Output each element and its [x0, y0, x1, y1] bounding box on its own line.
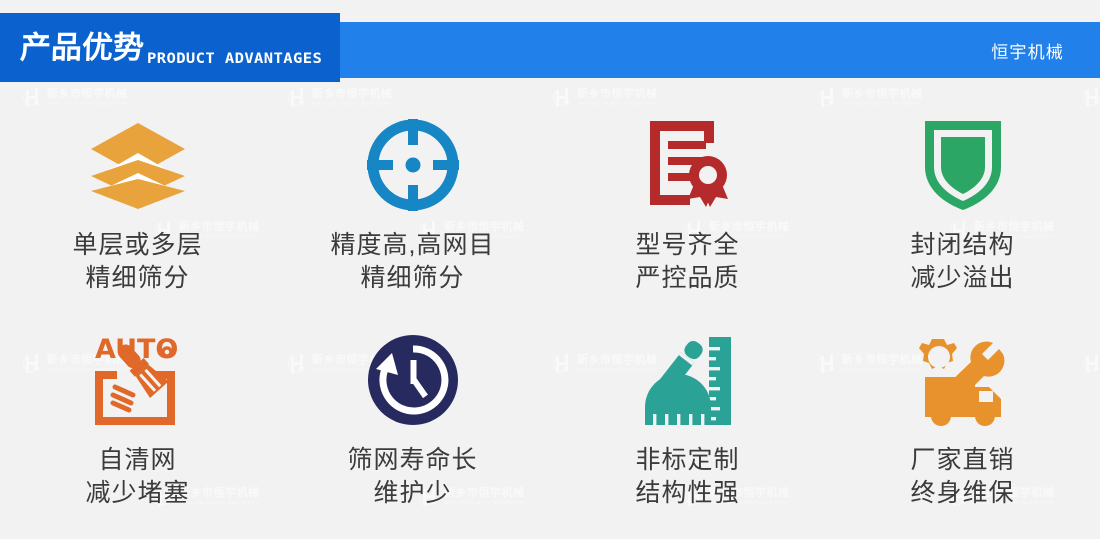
shield-icon — [911, 117, 1015, 213]
feature-caption-8-line1: 厂家直销 — [910, 444, 1014, 477]
layers-stack-icon — [86, 117, 190, 213]
feature-card-4: 封闭结构 减少溢出 — [825, 95, 1100, 310]
feature-card-6: 筛网寿命长 维护少 — [275, 310, 550, 525]
feature-card-7: 非标定制 结构性强 — [550, 310, 825, 525]
feature-caption-6: 筛网寿命长 维护少 — [347, 444, 477, 510]
feature-caption-6-line1: 筛网寿命长 — [347, 444, 477, 477]
pencil-ruler-icon — [636, 332, 740, 428]
auto-brush-icon: AUTO — [86, 332, 190, 428]
header-title-tag: 产品优势 PRODUCT ADVANTAGES — [0, 13, 340, 82]
page-title-cn: 产品优势 — [19, 31, 144, 65]
feature-caption-1-line1: 单层或多层 — [72, 229, 202, 262]
feature-caption-1-line2: 精细筛分 — [72, 262, 202, 295]
feature-card-2: 精度高,高网目 精细筛分 — [275, 95, 550, 310]
feature-caption-6-line2: 维护少 — [347, 477, 477, 510]
feature-caption-4-line2: 减少溢出 — [910, 262, 1014, 295]
feature-caption-3-line1: 型号齐全 — [635, 229, 739, 262]
feature-grid: 单层或多层 精细筛分 精度高,高网目 精细筛分 — [0, 95, 1100, 525]
feature-caption-3: 型号齐全 严控品质 — [635, 229, 739, 295]
feature-caption-4: 封闭结构 减少溢出 — [910, 229, 1014, 295]
feature-caption-7: 非标定制 结构性强 — [635, 444, 739, 510]
feature-caption-5: 自清网 减少堵塞 — [85, 444, 189, 510]
certificate-award-icon — [636, 117, 740, 213]
feature-card-5: AUTO 自清网 减少堵塞 — [0, 310, 275, 525]
clock-history-icon — [361, 332, 465, 428]
feature-caption-7-line1: 非标定制 — [635, 444, 739, 477]
feature-caption-2-line2: 精细筛分 — [331, 262, 495, 295]
feature-caption-4-line1: 封闭结构 — [910, 229, 1014, 262]
product-advantages-banner: 新乡市恒宇机械XINXIANG HENGYU MACHINERY新乡市恒宇机械X… — [0, 0, 1100, 539]
feature-caption-8: 厂家直销 终身维保 — [910, 444, 1014, 510]
feature-caption-5-line2: 减少堵塞 — [85, 477, 189, 510]
feature-card-8: 厂家直销 终身维保 — [825, 310, 1100, 525]
page-title-en: PRODUCT ADVANTAGES — [147, 50, 322, 80]
feature-caption-2: 精度高,高网目 精细筛分 — [331, 229, 495, 295]
feature-caption-5-line1: 自清网 — [85, 444, 189, 477]
delivery-truck-service-icon — [911, 332, 1015, 428]
header: 产品优势 PRODUCT ADVANTAGES 恒宇机械 — [0, 0, 1100, 95]
feature-card-1: 单层或多层 精细筛分 — [0, 95, 275, 310]
feature-caption-1: 单层或多层 精细筛分 — [72, 229, 202, 295]
brand-name: 恒宇机械 — [991, 22, 1064, 78]
target-crosshair-icon — [361, 117, 465, 213]
feature-caption-7-line2: 结构性强 — [635, 477, 739, 510]
feature-caption-3-line2: 严控品质 — [635, 262, 739, 295]
feature-caption-2-line1: 精度高,高网目 — [331, 229, 495, 262]
feature-card-3: 型号齐全 严控品质 — [550, 95, 825, 310]
feature-caption-8-line2: 终身维保 — [910, 477, 1014, 510]
